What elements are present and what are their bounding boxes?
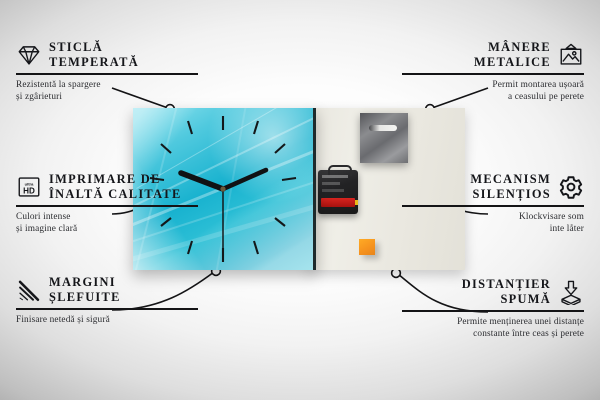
callout-title-line2: SPUMĂ	[500, 292, 551, 307]
callout-titles: MECANISM SILENȚIOS	[470, 172, 551, 202]
mechanism-print-1	[322, 175, 348, 178]
callout-sub-line1: Permit montarea ușoară	[402, 79, 584, 91]
svg-text:HD: HD	[23, 187, 35, 196]
metal-hanger-plate	[360, 113, 408, 163]
callout-title-line1: STICLĂ	[49, 40, 139, 55]
gear-icon	[558, 174, 584, 200]
mechanism-print-2	[322, 182, 340, 185]
callout-sub-line1: Rezistentă la spargere	[16, 79, 198, 91]
callout-head: DISTANȚIER SPUMĂ	[402, 277, 584, 307]
callout-head: STICLĂ TEMPERATĂ	[16, 40, 198, 70]
callout-sub-line2: și zgârieturi	[16, 91, 198, 103]
callout-rule	[16, 205, 198, 207]
callout-titles: DISTANȚIER SPUMĂ	[462, 277, 551, 307]
callout-title-line2: SILENȚIOS	[472, 187, 551, 202]
ultra-hd-icon: ultra HD	[16, 174, 42, 200]
picture-hanger-icon	[558, 42, 584, 68]
callout-manere-metalice: MÂNERE METALICE Permit montarea ușoară a…	[402, 40, 584, 103]
callout-title-line1: MÂNERE	[488, 40, 551, 55]
callout-head: MECANISM SILENȚIOS	[402, 172, 584, 202]
callout-sub-line1: Permite menținerea unei distanțe	[402, 316, 584, 328]
callout-head: MARGINI ȘLEFUITE	[16, 275, 198, 305]
callout-title-line1: DISTANȚIER	[462, 277, 551, 292]
callout-titles: IMPRIMARE DE ÎNALTĂ CALITATE	[49, 172, 182, 202]
callout-head: ultra HD IMPRIMARE DE ÎNALTĂ CALITATE	[16, 172, 198, 202]
callout-margini-slefuite: MARGINI ȘLEFUITE Finisare netedă și sigu…	[16, 275, 198, 326]
callout-sub-line2: inte låter	[402, 223, 584, 235]
infographic-stage: STICLĂ TEMPERATĂ Rezistentă la spargere …	[0, 0, 600, 400]
clock-mechanism	[318, 170, 358, 214]
callout-sub-line2: constante între ceas și perete	[402, 328, 584, 340]
callout-title-line2: ÎNALTĂ CALITATE	[49, 187, 182, 202]
diamond-icon	[16, 42, 42, 68]
svg-text:ultra: ultra	[25, 182, 35, 187]
callout-sub-line1: Klockvisare som	[402, 211, 584, 223]
battery	[321, 198, 355, 207]
callout-sticla-temperata: STICLĂ TEMPERATĂ Rezistentă la spargere …	[16, 40, 198, 103]
callout-imprimare-calitate: ultra HD IMPRIMARE DE ÎNALTĂ CALITATE Cu…	[16, 172, 198, 235]
callout-rule	[402, 310, 584, 312]
callout-head: MÂNERE METALICE	[402, 40, 584, 70]
foam-spacer	[359, 239, 375, 255]
callout-title-line2: TEMPERATĂ	[49, 55, 139, 70]
callout-rule	[16, 73, 198, 75]
callout-rule	[402, 205, 584, 207]
callout-sub-line1: Culori intense	[16, 211, 198, 223]
callout-distantier-spuma: DISTANȚIER SPUMĂ Permite menținerea unei…	[402, 277, 584, 340]
callout-rule	[402, 73, 584, 75]
callout-title-line1: MECANISM	[470, 172, 551, 187]
callout-titles: MARGINI ȘLEFUITE	[49, 275, 121, 305]
callout-sub-line1: Finisare netedă și sigură	[16, 314, 198, 326]
callout-title-line2: ȘLEFUITE	[49, 290, 121, 305]
callout-titles: MÂNERE METALICE	[474, 40, 551, 70]
mechanism-print-3	[322, 189, 344, 192]
callout-title-line1: MARGINI	[49, 275, 121, 290]
callout-titles: STICLĂ TEMPERATĂ	[49, 40, 139, 70]
callout-mecanism-silentios: MECANISM SILENȚIOS Klockvisare som inte …	[402, 172, 584, 235]
hanger-slot	[369, 125, 397, 131]
callout-rule	[16, 308, 198, 310]
polished-edges-icon	[16, 277, 42, 303]
foam-spacer-icon	[558, 279, 584, 305]
callout-sub-line2: și imagine clară	[16, 223, 198, 235]
callout-title-line1: IMPRIMARE DE	[49, 172, 182, 187]
callout-title-line2: METALICE	[474, 55, 551, 70]
callout-sub-line2: a ceasului pe perete	[402, 91, 584, 103]
